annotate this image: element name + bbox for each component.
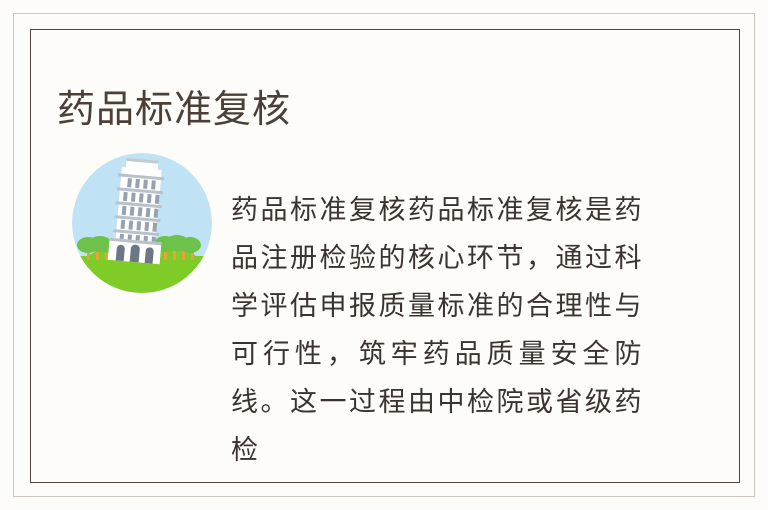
article-body-text: 药品标准复核药品标准复核是药品注册检验的核心环节，通过科学评估申报质量标准的合理… xyxy=(231,187,643,475)
page-title: 药品标准复核 xyxy=(57,87,291,133)
leaning-tower-of-pisa-illustration xyxy=(72,148,212,298)
